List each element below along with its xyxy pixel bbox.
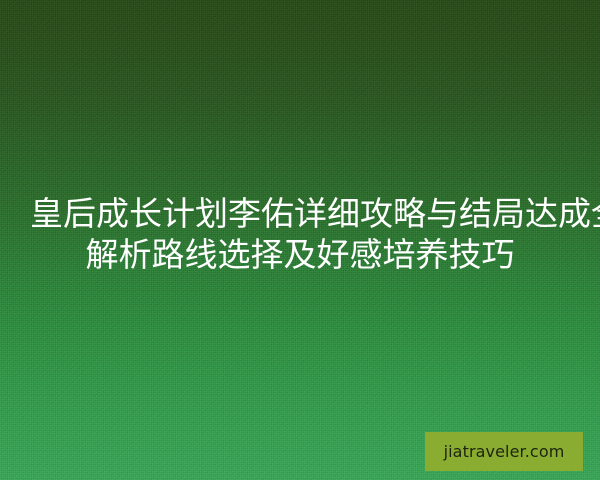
watermark-badge: jiatraveler.com <box>425 432 583 471</box>
title-line-1: 皇后成长计划李佑详细攻略与结局达成全 <box>30 193 570 234</box>
image-canvas: 皇后成长计划李佑详细攻略与结局达成全 解析路线选择及好感培养技巧 jiatrav… <box>0 0 600 480</box>
page-title: 皇后成长计划李佑详细攻略与结局达成全 解析路线选择及好感培养技巧 <box>0 193 600 275</box>
title-line-2: 解析路线选择及好感培养技巧 <box>30 234 570 275</box>
watermark-label: jiatraveler.com <box>444 444 565 460</box>
